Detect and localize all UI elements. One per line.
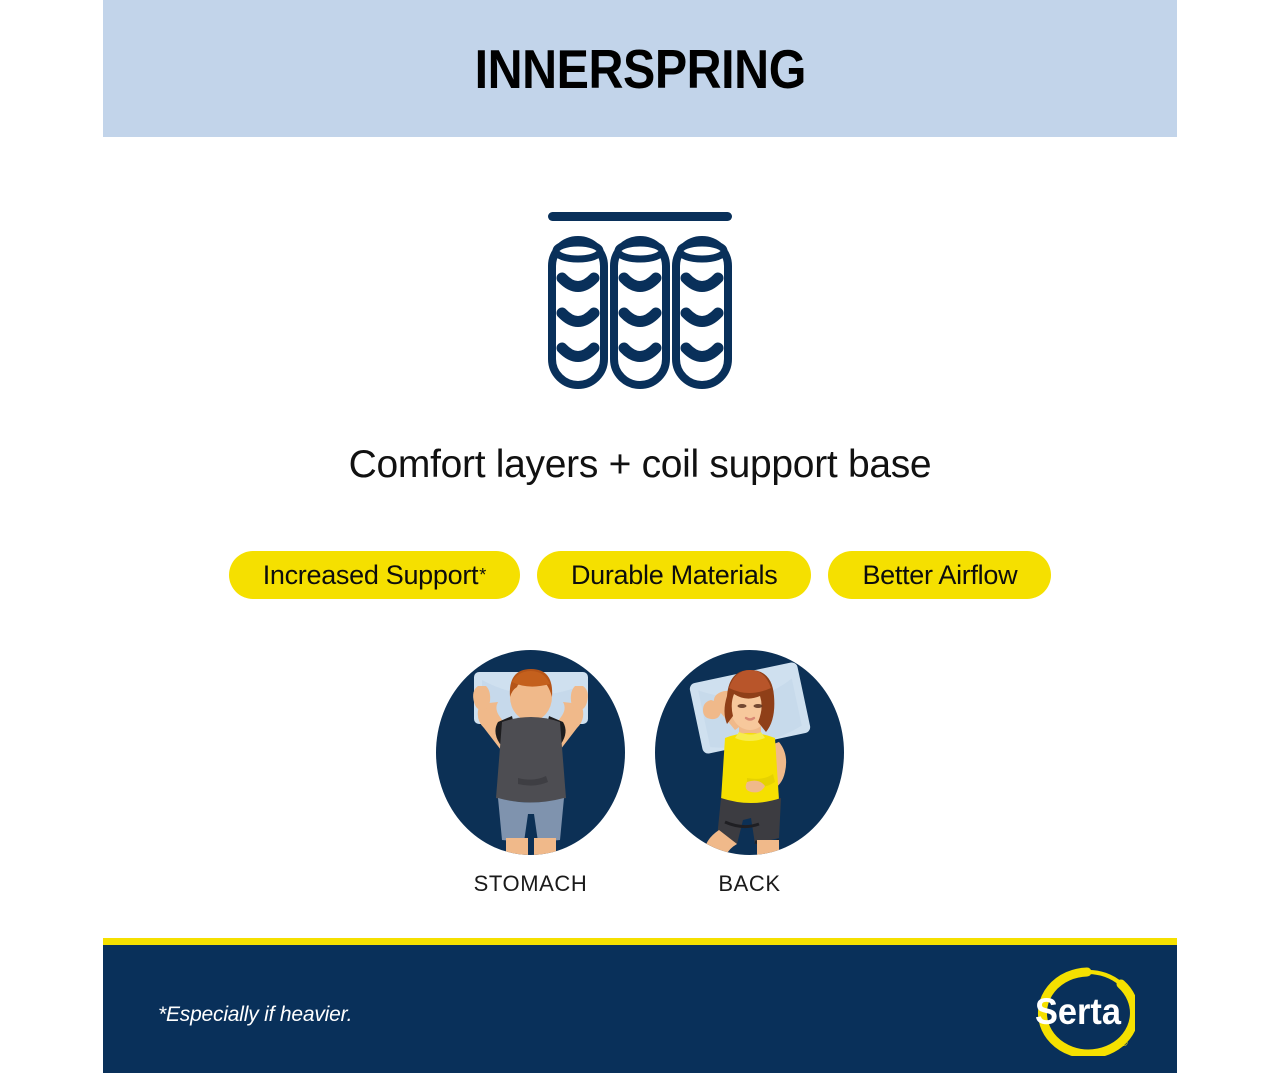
footer-band: *Especially if heavier. Serta ® [103,945,1177,1073]
back-sleeper-illustration [655,650,844,855]
feature-pill-label: Durable Materials [571,560,777,591]
sleep-position-back[interactable]: BACK [655,650,844,897]
subtitle: Comfort layers + coil support base [103,443,1177,487]
sleep-position-stomach[interactable]: STOMACH [436,650,625,897]
sleep-position-row: STOMACH [103,650,1177,897]
serta-wordmark: Serta [1035,991,1122,1032]
feature-pill-better-airflow[interactable]: Better Airflow [828,551,1051,599]
registered-mark-icon: ® [1120,1038,1128,1049]
page-title: INNERSPRING [474,37,805,101]
sleep-position-label: BACK [718,871,780,897]
stomach-sleeper-illustration [436,650,625,855]
innerspring-info-card: INNERSPRING [103,0,1177,1073]
feature-pill-row: Increased Support* Durable Materials Bet… [103,551,1177,599]
coil-icon-container [103,200,1177,396]
serta-logo[interactable]: Serta ® [1025,964,1135,1056]
coil-stack-icon [540,200,740,396]
feature-pill-label: Better Airflow [862,560,1017,591]
feature-pill-durable-materials[interactable]: Durable Materials [537,551,811,599]
footer-accent-rule [103,938,1177,945]
feature-pill-label: Increased Support [263,560,479,591]
feature-pill-increased-support[interactable]: Increased Support* [229,551,520,599]
header-band: INNERSPRING [103,0,1177,137]
footnote-text: *Especially if heavier. [158,1003,352,1027]
sleep-position-label: STOMACH [474,871,588,897]
